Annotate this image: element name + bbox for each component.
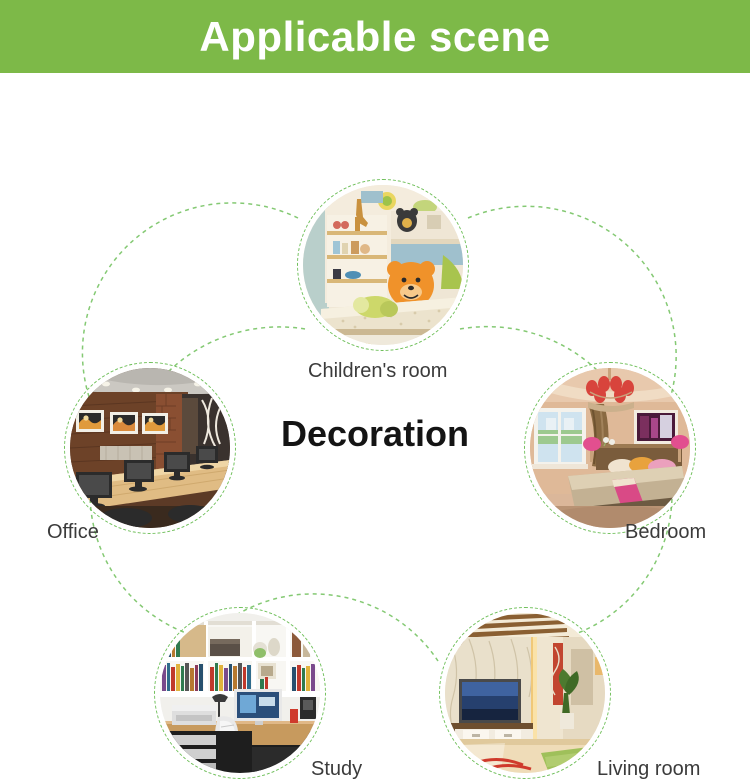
bedroom-photo xyxy=(530,368,690,528)
node-label-living-room: Living room xyxy=(597,758,700,781)
node-label-bedroom: Bedroom xyxy=(625,521,706,544)
study-photo xyxy=(160,613,320,773)
center-title: Decoration xyxy=(281,413,469,455)
arc-inner-1 xyxy=(167,327,305,373)
node-label-office: Office xyxy=(47,521,99,544)
header-banner: Applicable scene xyxy=(0,0,750,73)
diagram-area: Children's room xyxy=(0,73,750,750)
applicable-scene-infographic: Applicable scene xyxy=(0,0,750,750)
arc-inner-2 xyxy=(460,327,600,373)
office-photo xyxy=(70,368,230,528)
page-title: Applicable scene xyxy=(199,16,550,58)
childrens-room-photo xyxy=(303,185,463,345)
node-label-childrens-room: Children's room xyxy=(308,360,447,383)
living-room-photo xyxy=(445,613,605,773)
node-label-study: Study xyxy=(311,758,362,781)
